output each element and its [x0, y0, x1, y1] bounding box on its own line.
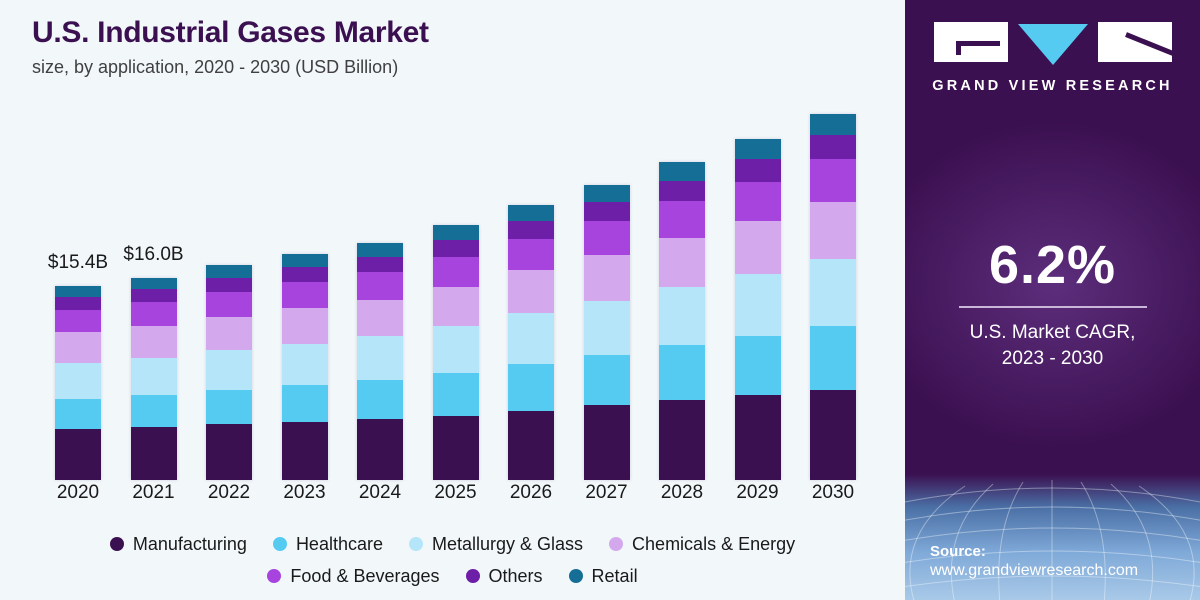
- bar-group-2023: 2023: [282, 0, 328, 480]
- bar-group-2024: 2024: [357, 0, 403, 480]
- segment-manufacturing[interactable]: [282, 422, 328, 480]
- legend-item-others[interactable]: Others: [466, 566, 543, 587]
- segment-manufacturing[interactable]: [357, 419, 403, 480]
- segment-metallurgy-glass[interactable]: [584, 301, 630, 355]
- segment-retail[interactable]: [206, 265, 252, 278]
- segment-chemicals-energy[interactable]: [131, 326, 177, 358]
- segment-healthcare[interactable]: [206, 390, 252, 424]
- bar-group-2025: 2025: [433, 0, 479, 480]
- legend-label: Food & Beverages: [290, 566, 439, 587]
- segment-others[interactable]: [735, 159, 781, 182]
- bar-value-label: $16.0B: [84, 244, 224, 266]
- segment-chemicals-energy[interactable]: [659, 238, 705, 287]
- segment-food-beverages[interactable]: [131, 302, 177, 326]
- stacked-bar[interactable]: [433, 225, 479, 480]
- segment-manufacturing[interactable]: [735, 395, 781, 480]
- legend-item-chemicals-energy[interactable]: Chemicals & Energy: [609, 534, 795, 555]
- legend-swatch-icon: [267, 569, 281, 583]
- legend-item-manufacturing[interactable]: Manufacturing: [110, 534, 247, 555]
- segment-manufacturing[interactable]: [131, 427, 177, 480]
- segment-healthcare[interactable]: [55, 399, 101, 429]
- legend-label: Healthcare: [296, 534, 383, 555]
- segment-food-beverages[interactable]: [810, 159, 856, 202]
- segment-manufacturing[interactable]: [810, 390, 856, 480]
- legend-swatch-icon: [409, 537, 423, 551]
- segment-metallurgy-glass[interactable]: [433, 326, 479, 373]
- cagr-block: 6.2% U.S. Market CAGR, 2023 - 2030: [905, 238, 1200, 371]
- segment-chemicals-energy[interactable]: [282, 308, 328, 343]
- stacked-bar[interactable]: [282, 254, 328, 480]
- segment-manufacturing[interactable]: [55, 429, 101, 479]
- segment-chemicals-energy[interactable]: [433, 287, 479, 326]
- segment-metallurgy-glass[interactable]: [206, 350, 252, 390]
- legend-label: Others: [489, 566, 543, 587]
- source-label: Source:: [930, 542, 1138, 562]
- segment-healthcare[interactable]: [357, 380, 403, 419]
- segment-food-beverages[interactable]: [357, 272, 403, 300]
- gvr-logo-g-icon: [934, 22, 1008, 62]
- bar-group-2026: 2026: [508, 0, 554, 480]
- gvr-logo-v-triangle-icon: [1016, 22, 1090, 66]
- segment-retail[interactable]: [131, 278, 177, 289]
- legend-row-2: Food & BeveragesOthersRetail: [0, 560, 905, 592]
- segment-food-beverages[interactable]: [584, 221, 630, 255]
- segment-retail[interactable]: [735, 139, 781, 159]
- stacked-bar-chart: $15.4B2020$16.0B202120222023202420252026…: [0, 0, 905, 520]
- segment-others[interactable]: [282, 267, 328, 282]
- segment-chemicals-energy[interactable]: [357, 300, 403, 337]
- bar-group-2027: 2027: [584, 0, 630, 480]
- segment-others[interactable]: [810, 135, 856, 159]
- segment-food-beverages[interactable]: [206, 292, 252, 317]
- segment-metallurgy-glass[interactable]: [357, 336, 403, 380]
- legend-label: Manufacturing: [133, 534, 247, 555]
- x-axis-tick-2030: 2030: [778, 482, 888, 504]
- segment-chemicals-energy[interactable]: [735, 221, 781, 274]
- logo-wordmark: GRAND VIEW RESEARCH: [905, 78, 1200, 94]
- brand-logo: GRAND VIEW RESEARCH: [905, 22, 1200, 94]
- segment-others[interactable]: [357, 257, 403, 272]
- legend-row-1: ManufacturingHealthcareMetallurgy & Glas…: [0, 528, 905, 560]
- segment-metallurgy-glass[interactable]: [55, 363, 101, 400]
- segment-chemicals-energy[interactable]: [206, 317, 252, 350]
- segment-food-beverages[interactable]: [433, 257, 479, 287]
- chart-panel: U.S. Industrial Gases Market size, by ap…: [0, 0, 905, 600]
- segment-metallurgy-glass[interactable]: [131, 358, 177, 396]
- segment-metallurgy-glass[interactable]: [508, 313, 554, 363]
- source-url: www.grandviewresearch.com: [930, 561, 1138, 582]
- segment-healthcare[interactable]: [131, 395, 177, 427]
- stacked-bar[interactable]: [55, 286, 101, 480]
- stacked-bar[interactable]: [206, 265, 252, 480]
- segment-retail[interactable]: [508, 205, 554, 221]
- segment-retail[interactable]: [659, 162, 705, 181]
- segment-chemicals-energy[interactable]: [508, 270, 554, 313]
- legend-swatch-icon: [609, 537, 623, 551]
- segment-healthcare[interactable]: [735, 336, 781, 395]
- segment-manufacturing[interactable]: [206, 424, 252, 480]
- segment-retail[interactable]: [282, 254, 328, 267]
- segment-manufacturing[interactable]: [584, 405, 630, 479]
- segment-manufacturing[interactable]: [433, 416, 479, 480]
- segment-food-beverages[interactable]: [55, 310, 101, 333]
- segment-manufacturing[interactable]: [659, 400, 705, 480]
- legend-item-healthcare[interactable]: Healthcare: [273, 534, 383, 555]
- stacked-bar[interactable]: [508, 205, 554, 480]
- segment-healthcare[interactable]: [810, 326, 856, 390]
- legend-label: Retail: [592, 566, 638, 587]
- segment-healthcare[interactable]: [659, 345, 705, 401]
- segment-healthcare[interactable]: [282, 385, 328, 422]
- logo-marks: [905, 22, 1200, 66]
- legend-label: Metallurgy & Glass: [432, 534, 583, 555]
- bar-group-2021: $16.0B2021: [131, 0, 177, 480]
- bar-group-2029: 2029: [735, 0, 781, 480]
- stacked-bar[interactable]: [584, 185, 630, 480]
- segment-others[interactable]: [584, 202, 630, 221]
- segment-others[interactable]: [206, 278, 252, 292]
- bar-group-2030: 2030: [810, 0, 856, 480]
- legend-item-food-beverages[interactable]: Food & Beverages: [267, 566, 439, 587]
- segment-retail[interactable]: [584, 185, 630, 203]
- segment-others[interactable]: [659, 181, 705, 201]
- stacked-bar[interactable]: [659, 162, 705, 480]
- segment-retail[interactable]: [810, 114, 856, 135]
- segment-chemicals-energy[interactable]: [810, 202, 856, 259]
- segment-metallurgy-glass[interactable]: [735, 274, 781, 336]
- source-block: Source: www.grandviewresearch.com: [930, 542, 1138, 582]
- segment-others[interactable]: [508, 221, 554, 239]
- segment-healthcare[interactable]: [584, 355, 630, 405]
- stacked-bar[interactable]: [131, 278, 177, 480]
- divider: [959, 306, 1147, 308]
- segment-retail[interactable]: [357, 243, 403, 257]
- segment-healthcare[interactable]: [433, 373, 479, 416]
- stacked-bar[interactable]: [357, 243, 403, 480]
- segment-food-beverages[interactable]: [659, 201, 705, 238]
- cagr-caption: U.S. Market CAGR, 2023 - 2030: [905, 320, 1200, 371]
- segment-metallurgy-glass[interactable]: [810, 259, 856, 326]
- cagr-value: 6.2%: [905, 238, 1200, 292]
- segment-metallurgy-glass[interactable]: [282, 344, 328, 386]
- legend-swatch-icon: [273, 537, 287, 551]
- segment-others[interactable]: [433, 240, 479, 256]
- segment-healthcare[interactable]: [508, 364, 554, 411]
- bar-group-2022: 2022: [206, 0, 252, 480]
- segment-food-beverages[interactable]: [735, 182, 781, 221]
- segment-retail[interactable]: [433, 225, 479, 240]
- legend-item-retail[interactable]: Retail: [569, 566, 638, 587]
- gvr-logo-r-icon: [1098, 22, 1172, 62]
- segment-food-beverages[interactable]: [508, 239, 554, 271]
- segment-metallurgy-glass[interactable]: [659, 287, 705, 345]
- legend-swatch-icon: [110, 537, 124, 551]
- segment-food-beverages[interactable]: [282, 282, 328, 309]
- legend-item-metallurgy-glass[interactable]: Metallurgy & Glass: [409, 534, 583, 555]
- legend-swatch-icon: [569, 569, 583, 583]
- cagr-caption-line1: U.S. Market CAGR,: [905, 320, 1200, 346]
- segment-retail[interactable]: [55, 286, 101, 297]
- cagr-caption-line2: 2023 - 2030: [905, 346, 1200, 372]
- chart-legend: ManufacturingHealthcareMetallurgy & Glas…: [0, 528, 905, 592]
- bar-group-2020: $15.4B2020: [55, 0, 101, 480]
- segment-chemicals-energy[interactable]: [584, 255, 630, 300]
- stacked-bar[interactable]: [735, 139, 781, 480]
- infographic-root: U.S. Industrial Gases Market size, by ap…: [0, 0, 1200, 600]
- side-panel: GRAND VIEW RESEARCH 6.2% U.S. Market CAG…: [905, 0, 1200, 600]
- segment-manufacturing[interactable]: [508, 411, 554, 480]
- legend-label: Chemicals & Energy: [632, 534, 795, 555]
- stacked-bar[interactable]: [810, 114, 856, 480]
- segment-chemicals-energy[interactable]: [55, 332, 101, 362]
- bar-group-2028: 2028: [659, 0, 705, 480]
- legend-swatch-icon: [466, 569, 480, 583]
- segment-others[interactable]: [131, 289, 177, 302]
- segment-others[interactable]: [55, 297, 101, 310]
